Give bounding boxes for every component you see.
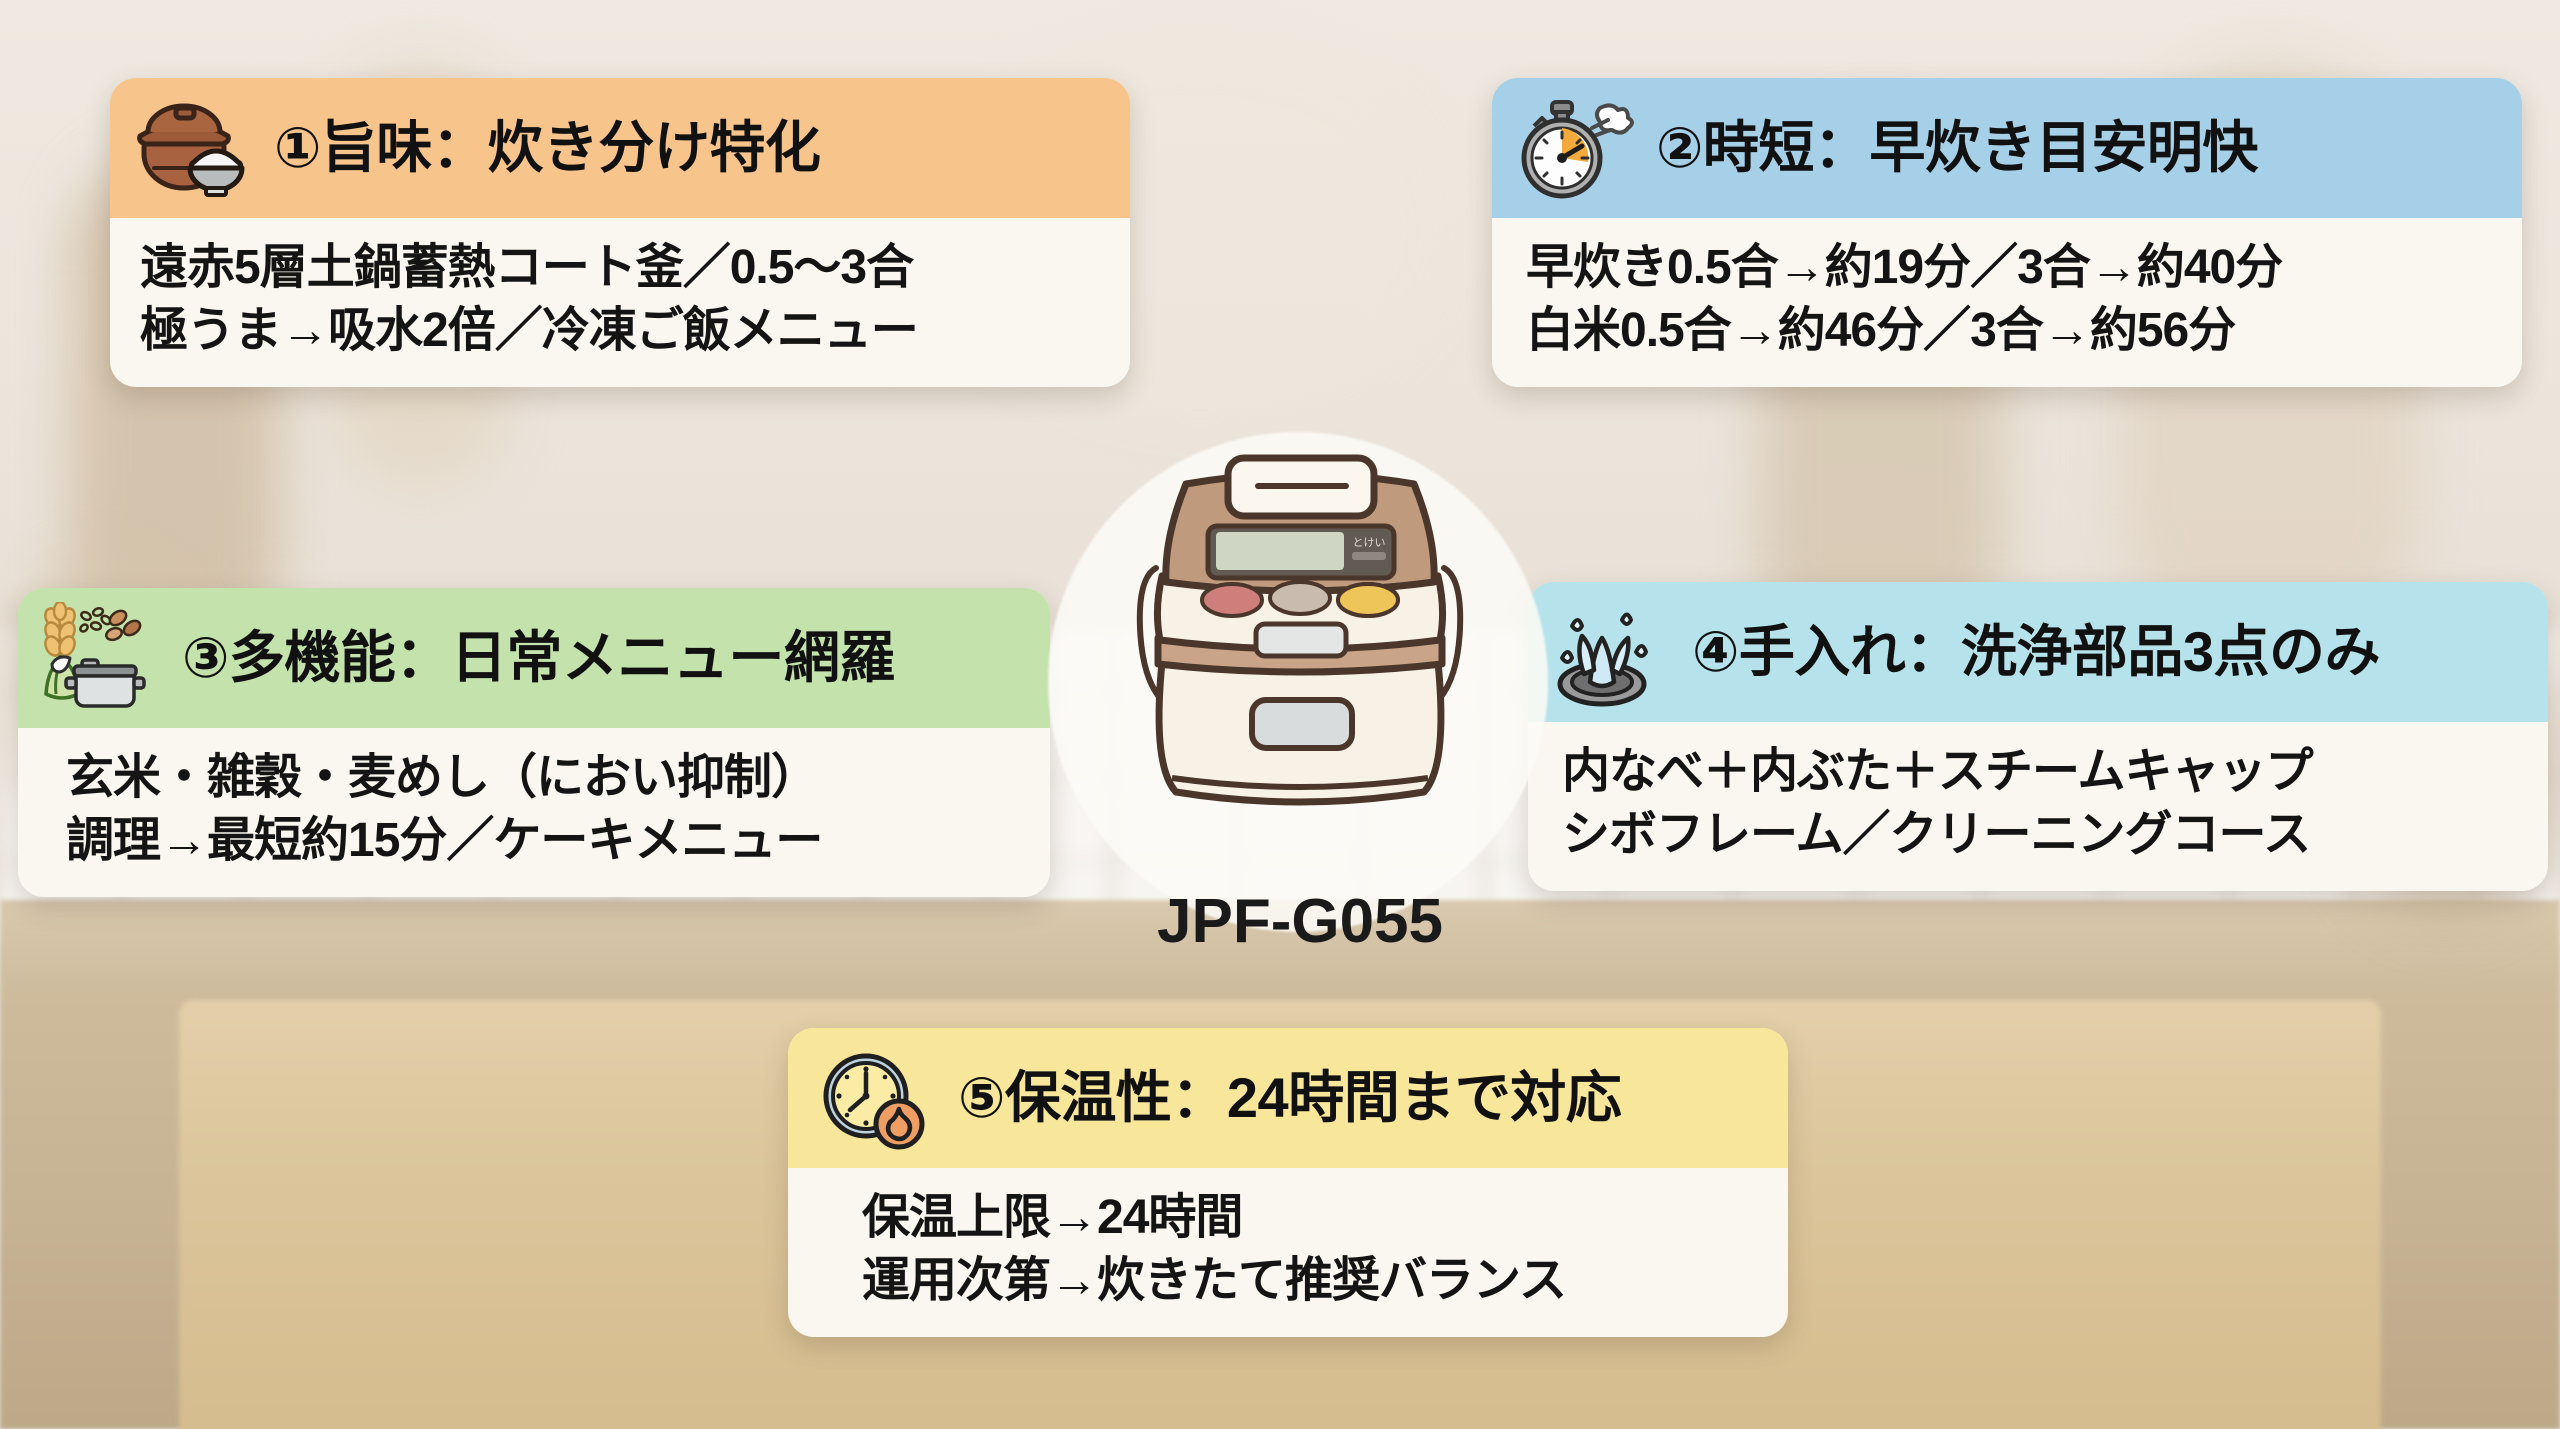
card-line: 極うま→吸水2倍／冷凍ご飯メニュー	[140, 299, 1104, 362]
card-body: 保温上限→24時間 運用次第→炊きたて推奨バランス	[788, 1168, 1788, 1337]
feature-card-keepwarm: ⑤保温性：24時間まで対応 保温上限→24時間 運用次第→炊きたて推奨バランス	[788, 1028, 1788, 1337]
product-showcase: とけい JPF-G055	[1020, 400, 1580, 1000]
card-line: 内なべ＋内ぶた＋スチームキャップ	[1562, 740, 2522, 803]
card-line: 保温上限→24時間	[862, 1186, 1762, 1249]
card-line: 早炊き0.5合→約19分／3合→約40分	[1526, 236, 2496, 299]
card-body: 早炊き0.5合→約19分／3合→約40分 白米0.5合→約46分／3合→約56分	[1492, 218, 2522, 387]
card-line: シボフレーム／クリーニングコース	[1562, 803, 2522, 866]
card-title: ⑤保温性：24時間まで対応	[958, 1068, 1621, 1128]
feature-card-multifunction: ③多機能：日常メニュー網羅 玄米・雑穀・麦めし（におい抑制） 調理→最短約15分…	[18, 588, 1050, 897]
card-header: ⑤保温性：24時間まで対応	[788, 1028, 1788, 1168]
card-title: ③多機能：日常メニュー網羅	[182, 628, 895, 688]
product-model-name: JPF-G055	[1020, 886, 1580, 957]
card-body: 遠赤5層土鍋蓄熱コート釜／0.5〜3合 極うま→吸水2倍／冷凍ご飯メニュー	[110, 218, 1130, 387]
card-line: 遠赤5層土鍋蓄熱コート釜／0.5〜3合	[140, 236, 1104, 299]
card-line: 調理→最短約15分／ケーキメニュー	[66, 809, 1024, 872]
card-line: 運用次第→炊きたて推奨バランス	[862, 1249, 1762, 1312]
rice-cooker-illustration: とけい	[1100, 448, 1500, 878]
card-title: ①旨味：炊き分け特化	[274, 118, 820, 178]
grains-pot-icon	[40, 602, 164, 714]
feature-card-speed: ②時短：早炊き目安明快 早炊き0.5合→約19分／3合→約40分 白米0.5合→…	[1492, 78, 2522, 387]
card-header: ④手入れ：洗浄部品3点のみ	[1528, 582, 2548, 722]
card-header: ③多機能：日常メニュー網羅	[18, 588, 1050, 728]
clay-pot-rice-bowl-icon	[132, 92, 256, 204]
infographic-canvas: ①旨味：炊き分け特化 遠赤5層土鍋蓄熱コート釜／0.5〜3合 極うま→吸水2倍／…	[0, 0, 2560, 1429]
card-title: ④手入れ：洗浄部品3点のみ	[1692, 622, 2380, 682]
svg-text:とけい: とけい	[1353, 536, 1386, 549]
card-title: ②時短：早炊き目安明快	[1656, 118, 2258, 178]
card-line: 白米0.5合→約46分／3合→約56分	[1526, 299, 2496, 362]
card-header: ②時短：早炊き目安明快	[1492, 78, 2522, 218]
clock-flame-icon	[816, 1042, 940, 1154]
card-body: 内なべ＋内ぶた＋スチームキャップ シボフレーム／クリーニングコース	[1528, 722, 2548, 891]
card-header: ①旨味：炊き分け特化	[110, 78, 1130, 218]
feature-card-maintenance: ④手入れ：洗浄部品3点のみ 内なべ＋内ぶた＋スチームキャップ シボフレーム／クリ…	[1528, 582, 2548, 891]
card-body: 玄米・雑穀・麦めし（におい抑制） 調理→最短約15分／ケーキメニュー	[18, 728, 1050, 897]
card-line: 玄米・雑穀・麦めし（におい抑制）	[66, 746, 1024, 809]
stopwatch-icon	[1514, 92, 1638, 204]
feature-card-umami: ①旨味：炊き分け特化 遠赤5層土鍋蓄熱コート釜／0.5〜3合 極うま→吸水2倍／…	[110, 78, 1130, 387]
